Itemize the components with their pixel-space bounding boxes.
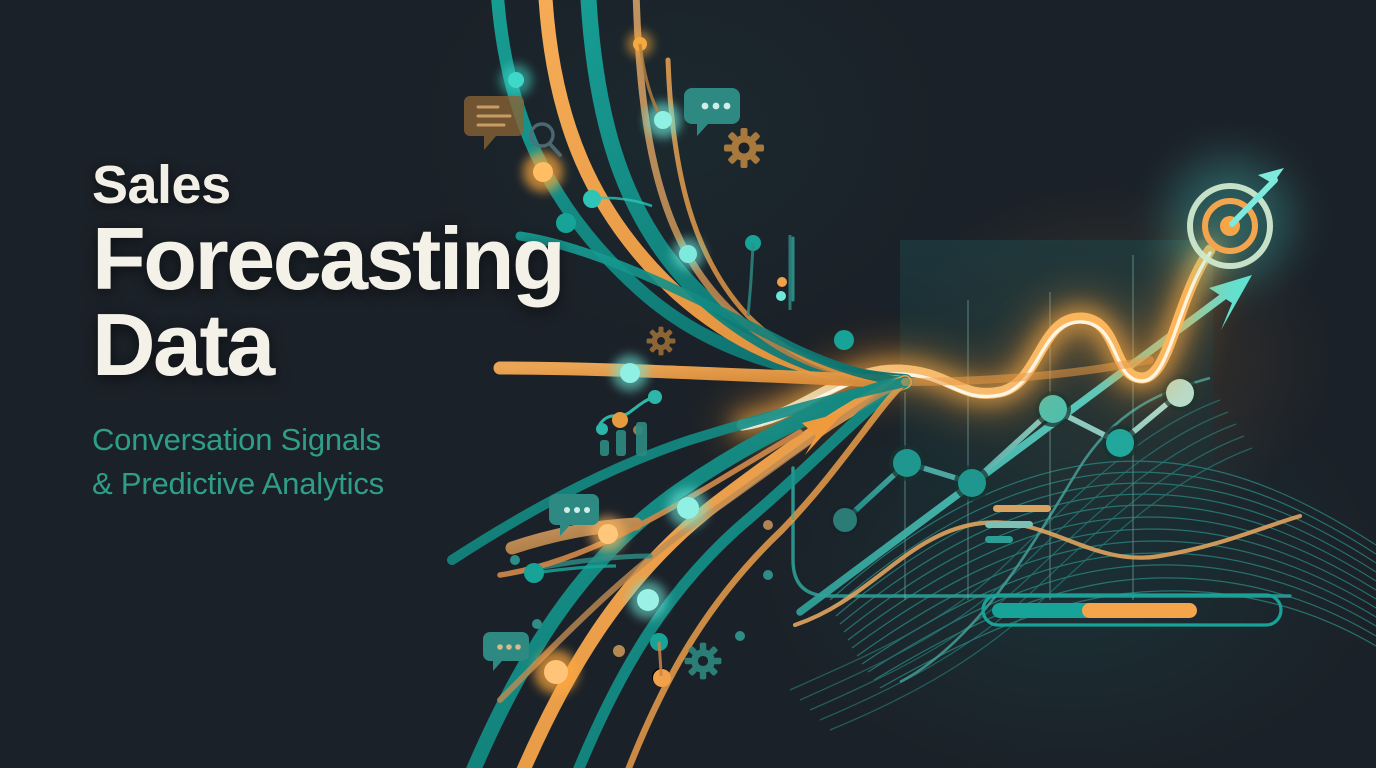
poster-canvas: Sales Forecasting Data Conversation Sign… [0,0,1376,768]
chat-bubble-dots-icon [684,88,740,136]
subtitle: Conversation Signals & Predictive Analyt… [92,418,652,506]
headline-line-1: Forecasting [92,209,563,308]
gear-icon [724,128,764,168]
target-arrow-icon [1168,158,1292,282]
headline-line-2: Data [92,302,652,388]
subtitle-line-2: & Predictive Analytics [92,462,652,506]
page-title: Forecasting Data [92,216,652,388]
kicker-text: Sales [92,158,652,212]
hero-text-block: Sales Forecasting Data Conversation Sign… [92,158,652,507]
subtitle-line-1: Conversation Signals [92,418,652,462]
chat-bubble-lines-icon [464,96,524,150]
gear-icon [685,643,722,680]
